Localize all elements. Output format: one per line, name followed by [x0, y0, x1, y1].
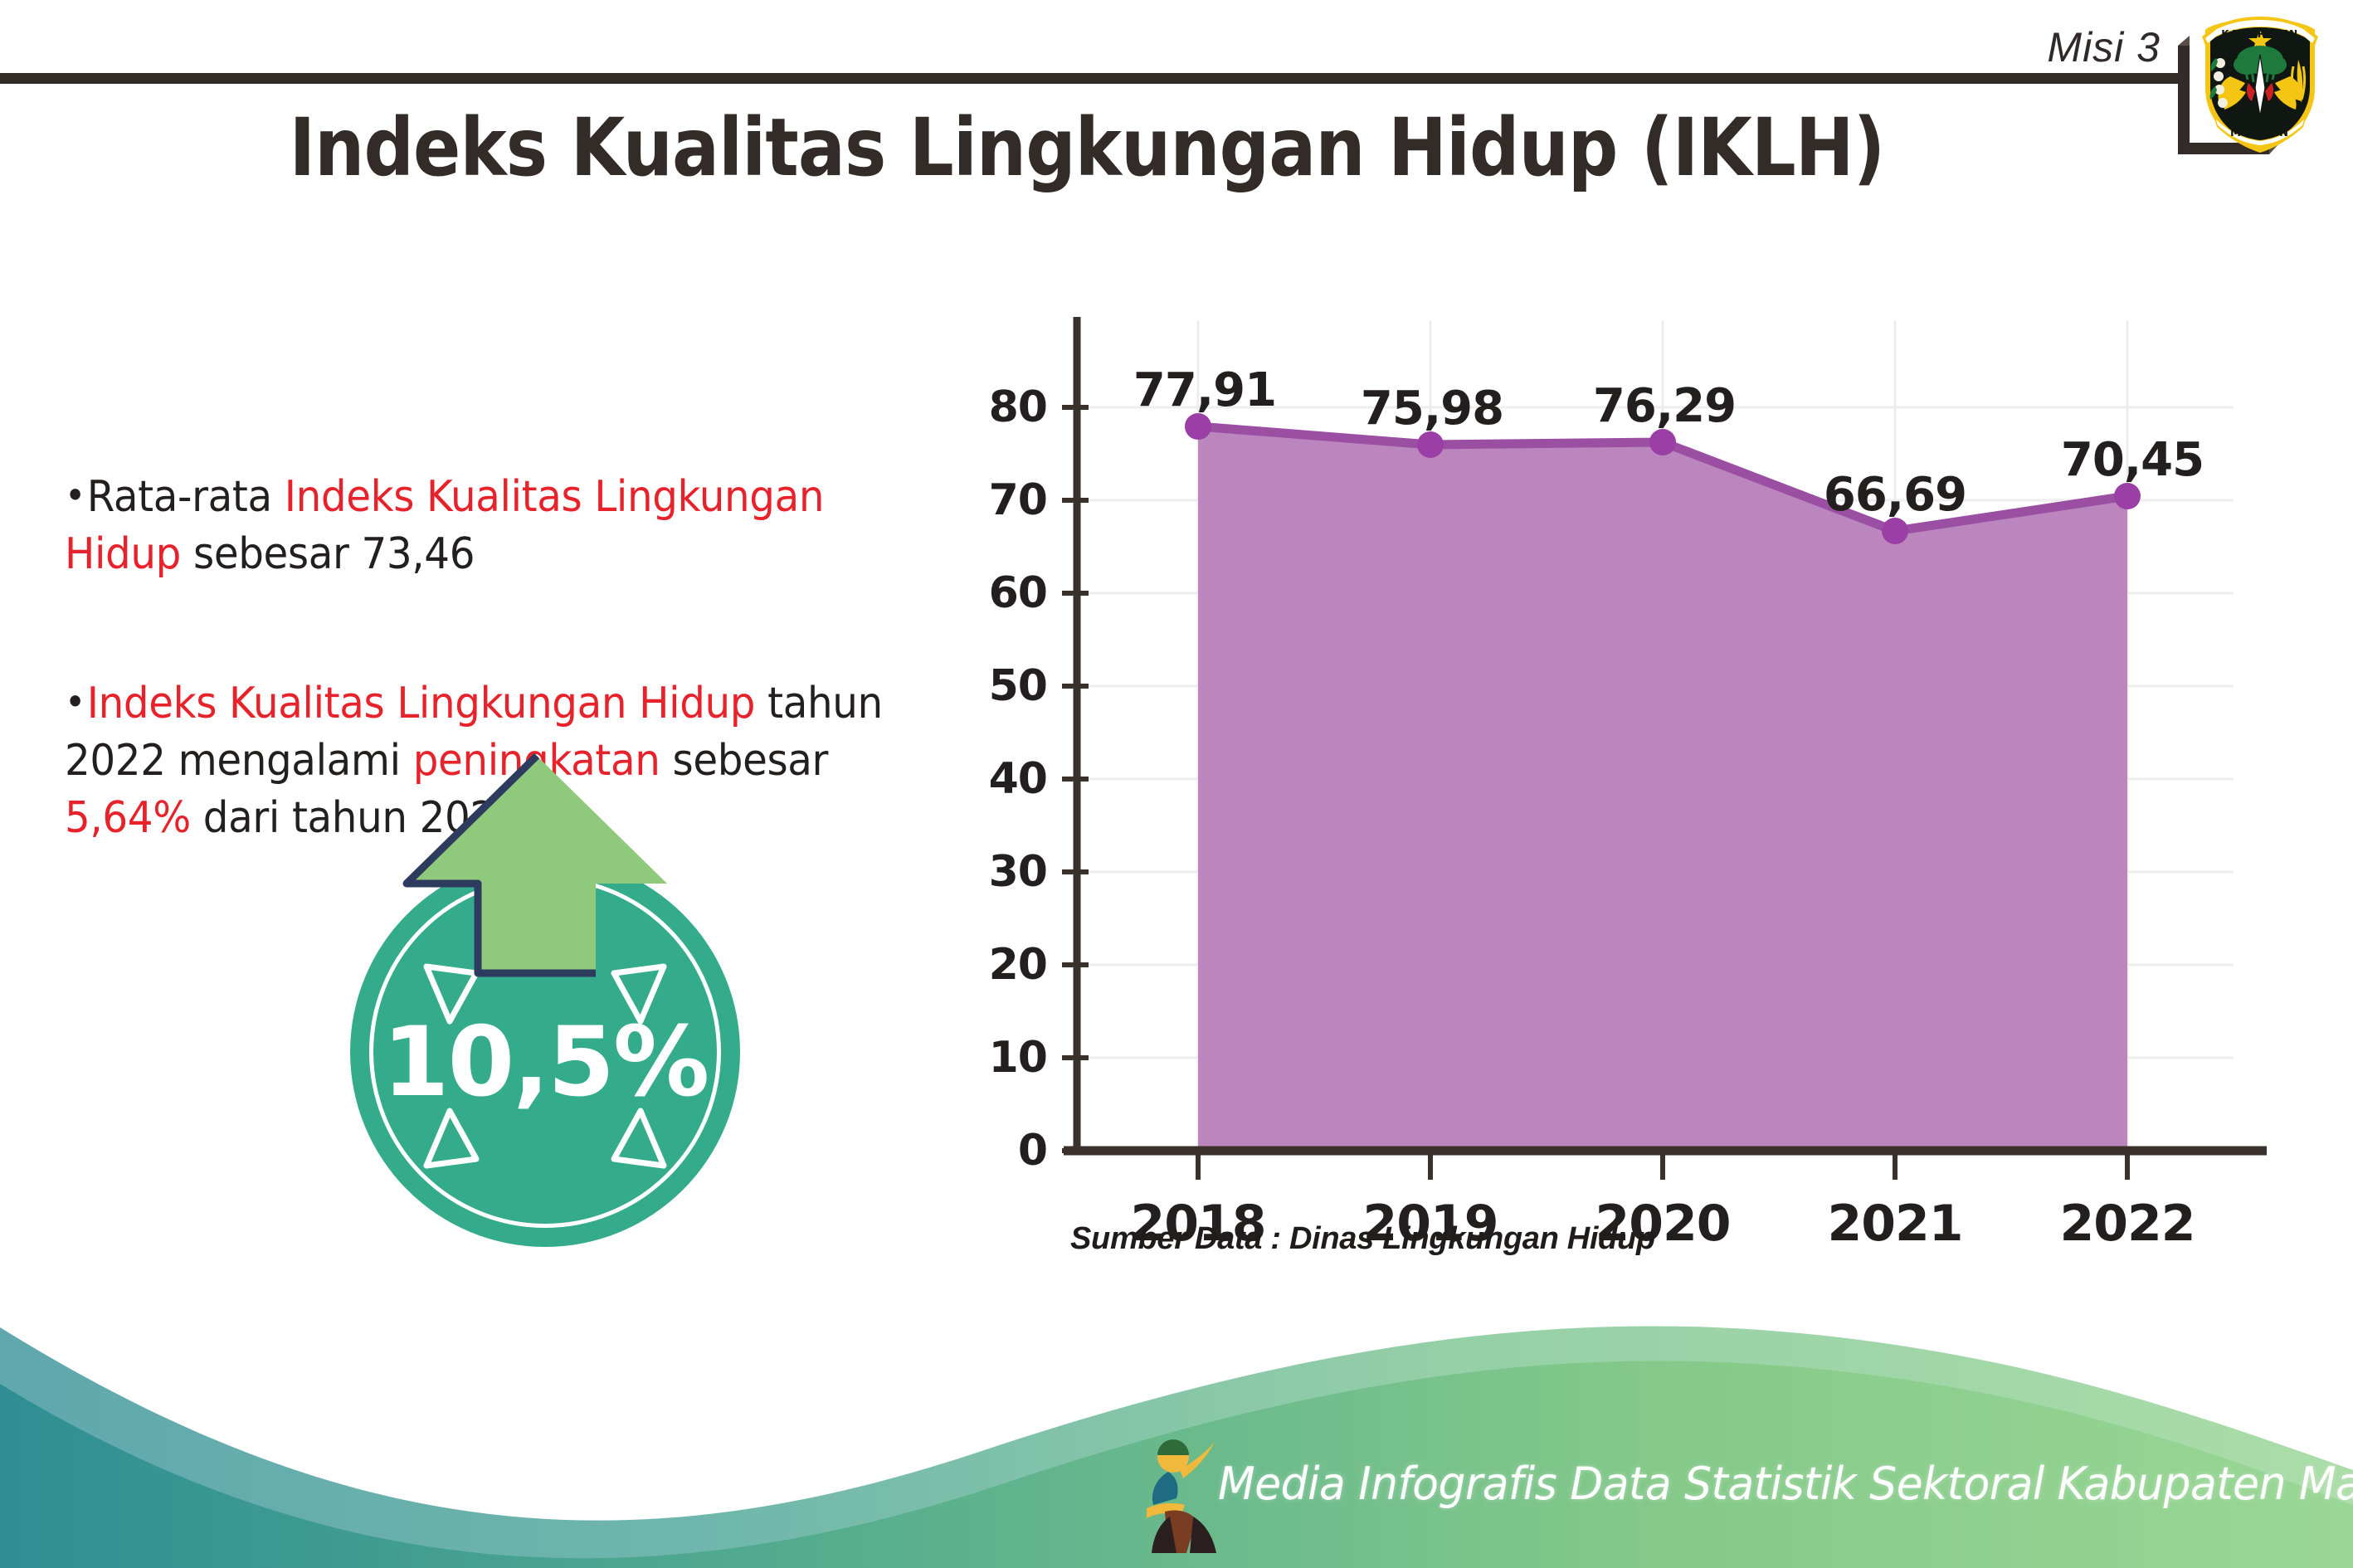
chart-area-fill — [1198, 426, 2127, 1151]
y-tick-label-80: 80 — [948, 382, 1047, 432]
bullet-item-1: •Rata-rata Indeks Kualitas Lingkungan Hi… — [65, 469, 913, 582]
y-tick-label-50: 50 — [948, 661, 1047, 711]
header-divider-rule — [0, 73, 2178, 84]
bullet-2-seg-4: 5,64% — [65, 793, 191, 843]
data-label-2021: 66,69 — [1771, 468, 2019, 522]
kabupaten-madiun-crest-icon: MADIUN KABUPATEN — [2194, 12, 2326, 157]
data-label-2022: 70,45 — [2008, 433, 2257, 487]
y-tick-label-0: 0 — [948, 1126, 1047, 1176]
infographic-slide: Misi 3 — [0, 0, 2353, 1568]
up-arrow-icon — [400, 751, 674, 983]
y-tick-label-30: 30 — [948, 847, 1047, 897]
badge-value-text: 10,5% — [350, 1015, 740, 1111]
data-label-2018: 77,91 — [1080, 363, 1329, 417]
chart-source-note: Sumber Data : Dinas Lingkungan Hidup — [1070, 1221, 1655, 1257]
y-tick-label-70: 70 — [948, 475, 1047, 525]
y-tick-label-40: 40 — [948, 754, 1047, 804]
footer-caption: Media Infografis Data Statistik Sektoral… — [1218, 1458, 2353, 1510]
y-tick-label-20: 20 — [948, 940, 1047, 990]
mission-label: Misi 3 — [2047, 23, 2161, 71]
y-tick-label-60: 60 — [948, 568, 1047, 618]
y-tick-label-10: 10 — [948, 1033, 1047, 1083]
svg-text:KABUPATEN: KABUPATEN — [2221, 28, 2298, 40]
x-tick-label-2021: 2021 — [1771, 1195, 2019, 1253]
data-label-2019: 75,98 — [1308, 382, 1556, 436]
bullet-1-seg-0: Rata-rata — [87, 472, 285, 522]
bullet-dot-icon: • — [65, 473, 85, 518]
increase-badge: 10,5% — [330, 751, 778, 1232]
svg-text:MADIUN: MADIUN — [2230, 127, 2290, 139]
data-label-2020: 76,29 — [1540, 379, 1789, 433]
bullet-2-seg-0: Indeks Kualitas Lingkungan Hidup — [87, 679, 755, 728]
page-title: Indeks Kualitas Lingkungan Hidup (IKLH) — [130, 106, 2044, 190]
bullet-1-seg-2: sebesar 73,46 — [181, 529, 475, 579]
x-tick-label-2022: 2022 — [2003, 1195, 2252, 1253]
iklh-area-chart: 0 10 20 30 40 50 60 70 80 2018 2019 2020… — [972, 292, 2300, 1196]
bullet-dot-icon: • — [65, 679, 85, 724]
header-bracket-stem — [2178, 46, 2190, 153]
